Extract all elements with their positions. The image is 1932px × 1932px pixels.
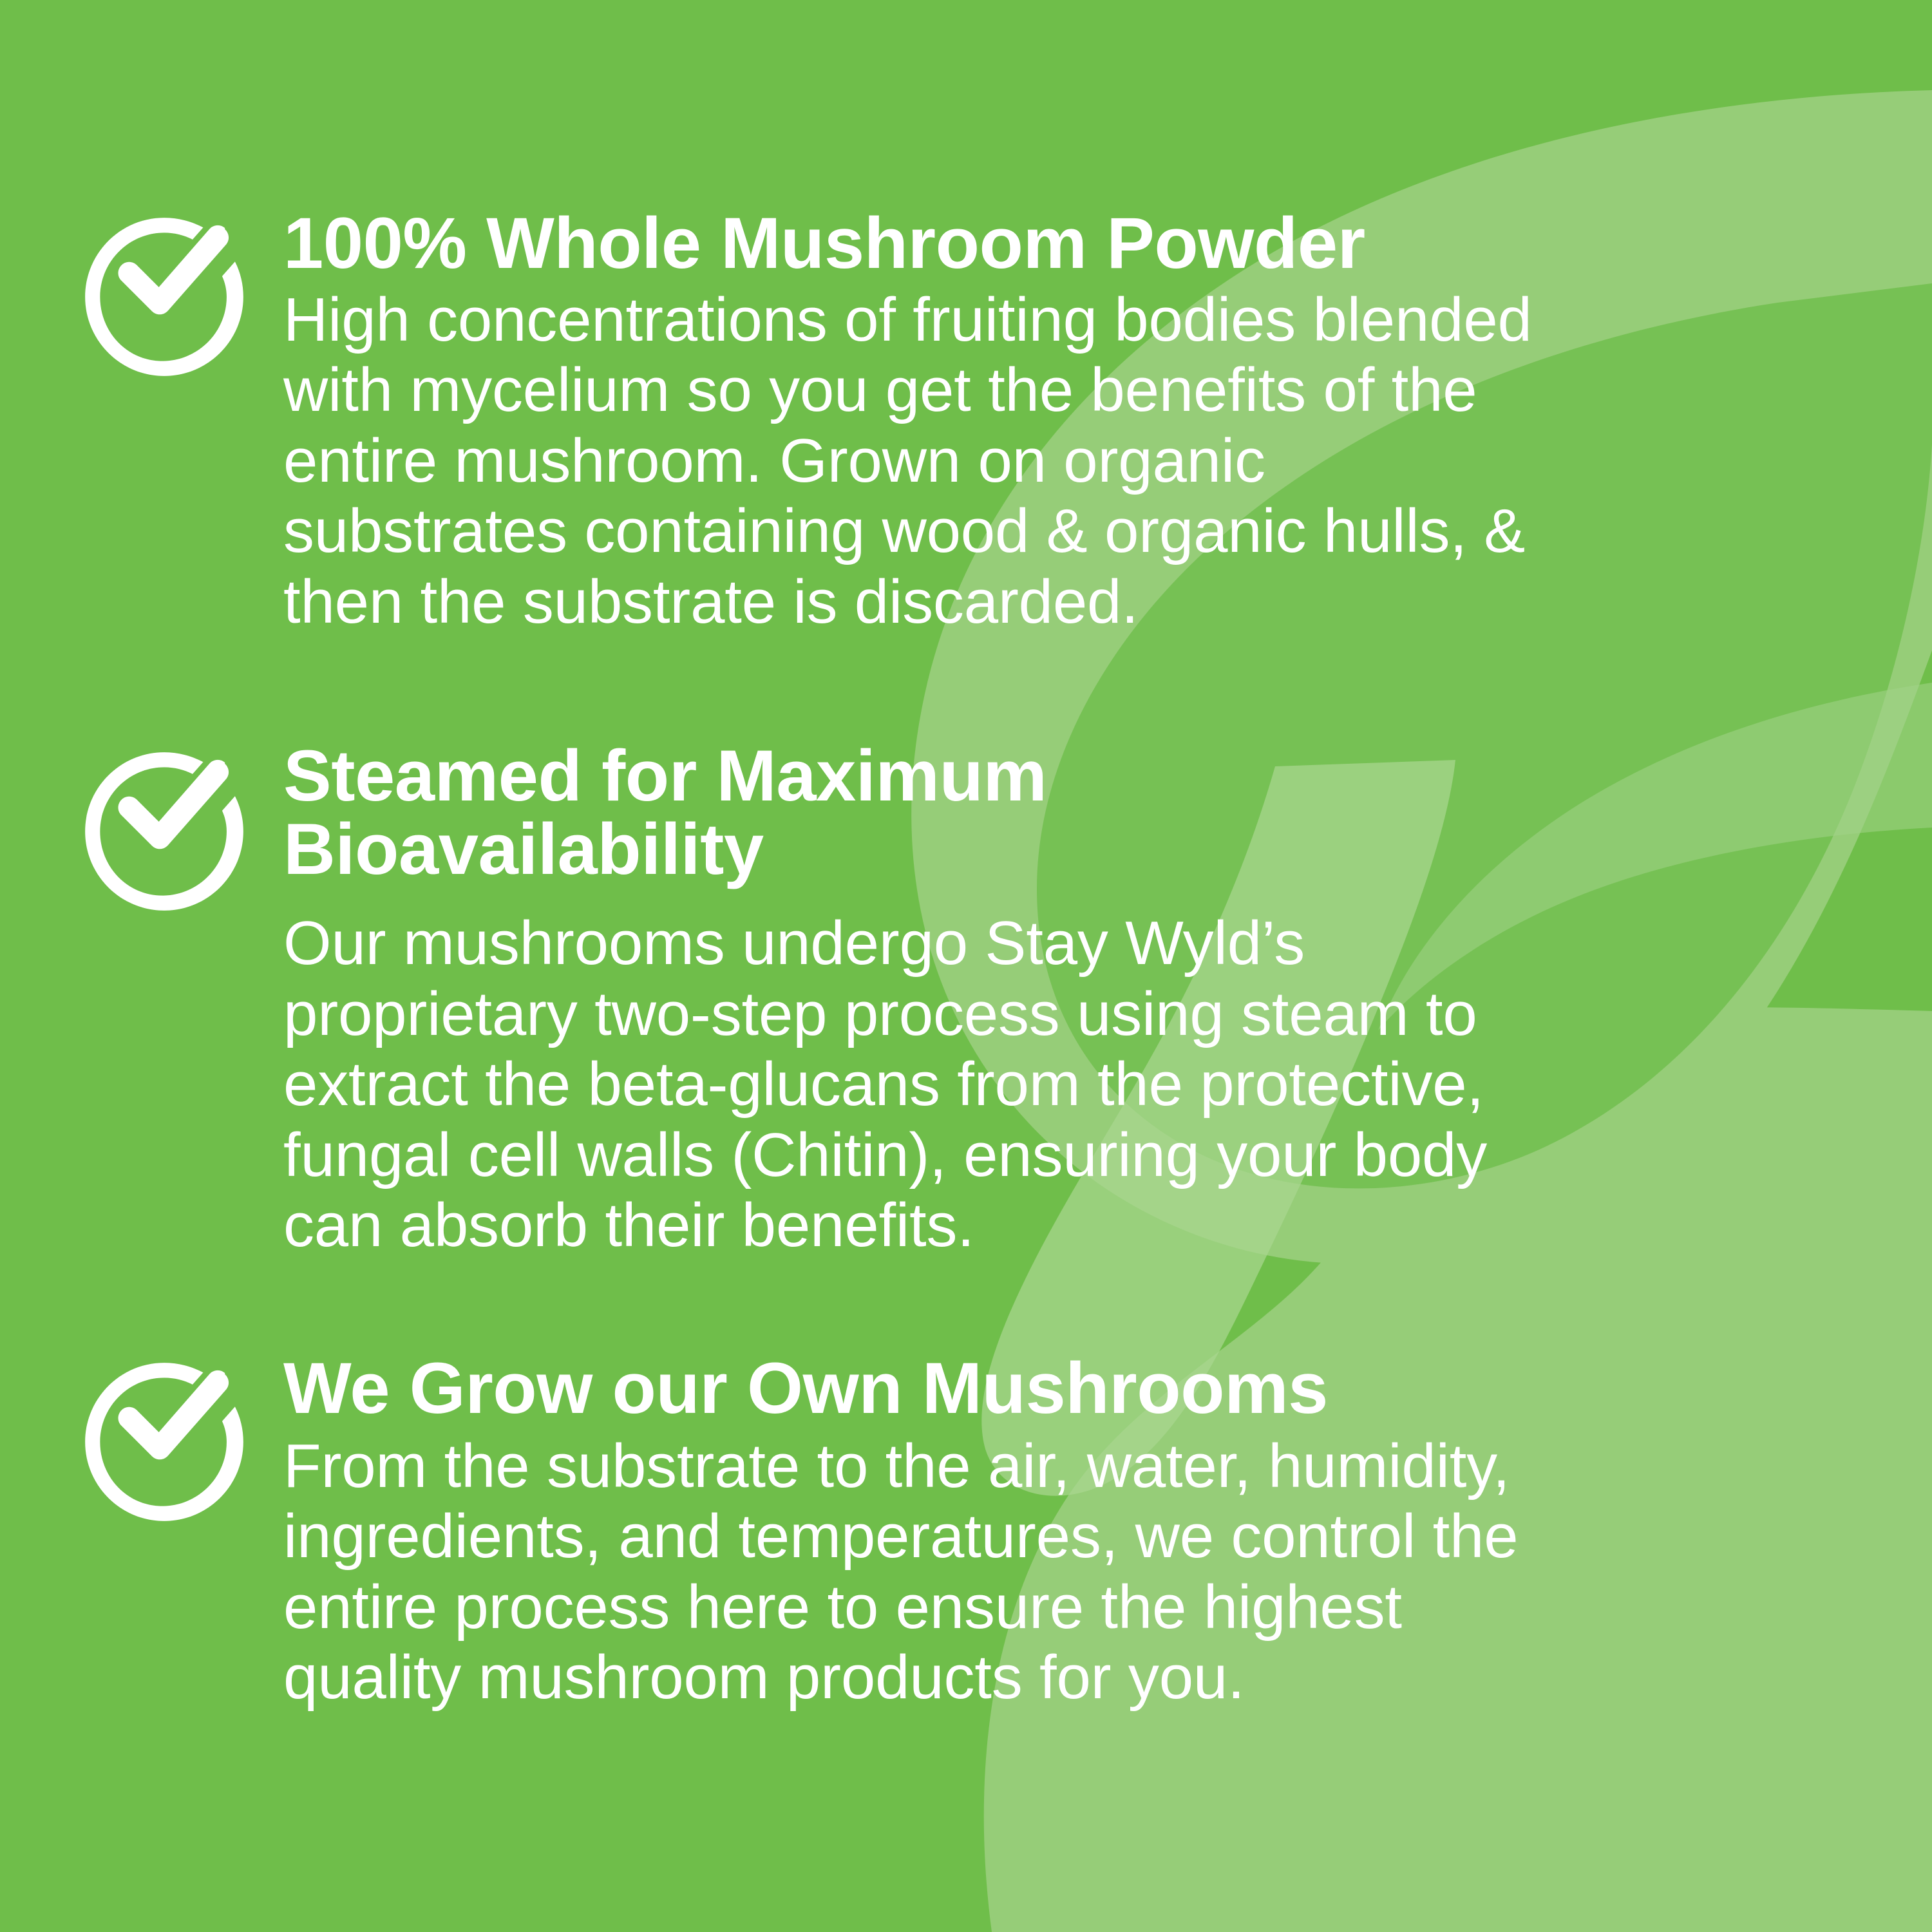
benefit-text-block: We Grow our Own Mushrooms From the subst…: [283, 1350, 1932, 1713]
benefit-body: High concentrations of fruiting bodies b…: [283, 285, 1855, 637]
benefit-item: We Grow our Own Mushrooms From the subst…: [0, 1350, 1932, 1713]
check-circle-icon: [77, 1355, 270, 1529]
infographic-panel: 100% Whole Mushroom Powder High concentr…: [0, 0, 1932, 1932]
benefit-body: Our mushrooms undergo Stay Wyld’s propri…: [283, 908, 1855, 1260]
benefit-title: Steamed for Maximum Bioavailability: [283, 739, 1855, 886]
benefit-title: We Grow our Own Mushrooms: [283, 1350, 1855, 1427]
check-circle-icon: [77, 210, 270, 384]
benefit-text-block: Steamed for Maximum Bioavailability Our …: [283, 739, 1932, 1261]
benefit-item: 100% Whole Mushroom Powder High concentr…: [0, 205, 1932, 637]
benefit-body: From the substrate to the air, water, hu…: [283, 1431, 1855, 1713]
benefits-list: 100% Whole Mushroom Powder High concentr…: [0, 0, 1932, 1932]
benefit-item: Steamed for Maximum Bioavailability Our …: [0, 739, 1932, 1261]
benefit-title: 100% Whole Mushroom Powder: [283, 205, 1855, 282]
check-circle-icon: [77, 744, 270, 918]
benefit-text-block: 100% Whole Mushroom Powder High concentr…: [283, 205, 1932, 637]
